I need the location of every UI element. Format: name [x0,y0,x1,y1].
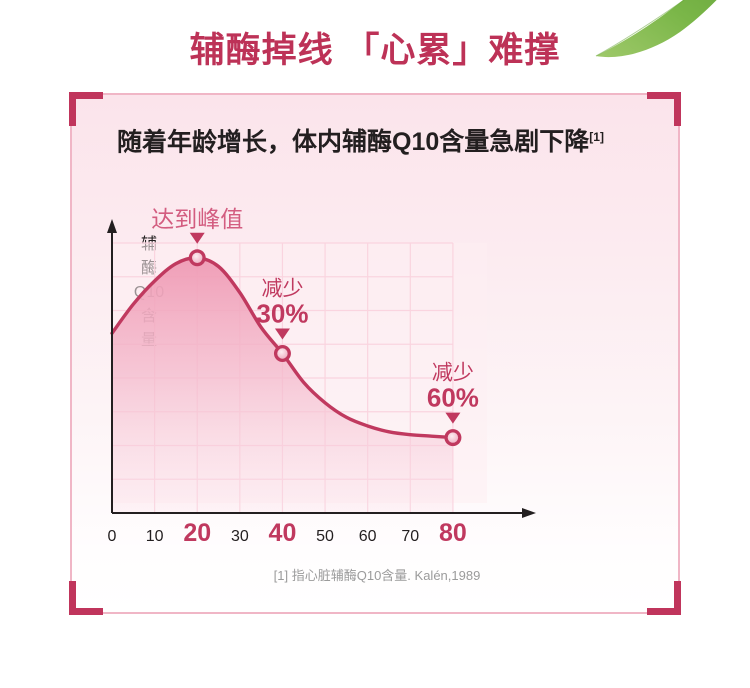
y-axis-arrow-icon [107,219,117,233]
chart-svg: 01020304050607080 达到峰值减少30%减少60% [72,183,678,563]
info-card: 随着年龄增长，体内辅酶Q10含量急剧下降[1] 辅 酶 Q10 含 量 [70,93,680,614]
annotation-label: 减少 [432,362,474,385]
annotation-label: 减少 [261,278,303,301]
x-tick-label-70: 70 [401,528,419,545]
data-point-center [448,432,458,442]
x-axis-arrow-icon [522,508,536,518]
chart-data-point-80 [444,429,461,446]
corner-accent-bottom-left [69,581,103,615]
chart-data-point-20 [189,249,206,266]
x-tick-label-50: 50 [316,528,334,545]
x-tick-label-40: 40 [269,519,297,547]
chart-footnote: [1] 指心脏辅酶Q10含量. Kalén,1989 [72,565,682,584]
annotation-label: 达到峰值 [151,206,243,232]
corner-accent-top-right [647,92,681,126]
x-tick-label-80: 80 [439,519,467,547]
corner-accent-top-left [69,92,103,126]
subtitle-footnote-marker: [1] [589,130,604,144]
chart-data-point-40 [274,345,291,362]
x-tick-label-10: 10 [146,528,164,545]
x-tick-label-0: 0 [108,528,117,545]
annotation-arrow-icon [190,233,205,244]
corner-accent-bottom-right [647,581,681,615]
annotation-value: 30% [256,299,308,329]
card-subtitle: 随着年龄增长，体内辅酶Q10含量急剧下降[1] [117,120,604,159]
coq10-decline-chart: 01020304050607080 达到峰值减少30%减少60% [72,183,678,563]
subtitle-highlighted-text: 体内辅酶Q10含量急剧下降 [292,125,589,159]
x-tick-label-30: 30 [231,528,249,545]
annotation-value: 60% [427,383,479,413]
data-point-center [192,253,202,263]
annotation-20: 达到峰值 [151,206,243,244]
x-tick-label-20: 20 [183,519,211,547]
page-title: 辅酶掉线 「心累」难撑 [0,22,750,73]
chart-x-tick-labels: 01020304050607080 [108,519,467,547]
x-tick-label-60: 60 [359,528,377,545]
subtitle-plain-text: 随着年龄增长， [117,128,292,156]
data-point-center [277,348,287,358]
